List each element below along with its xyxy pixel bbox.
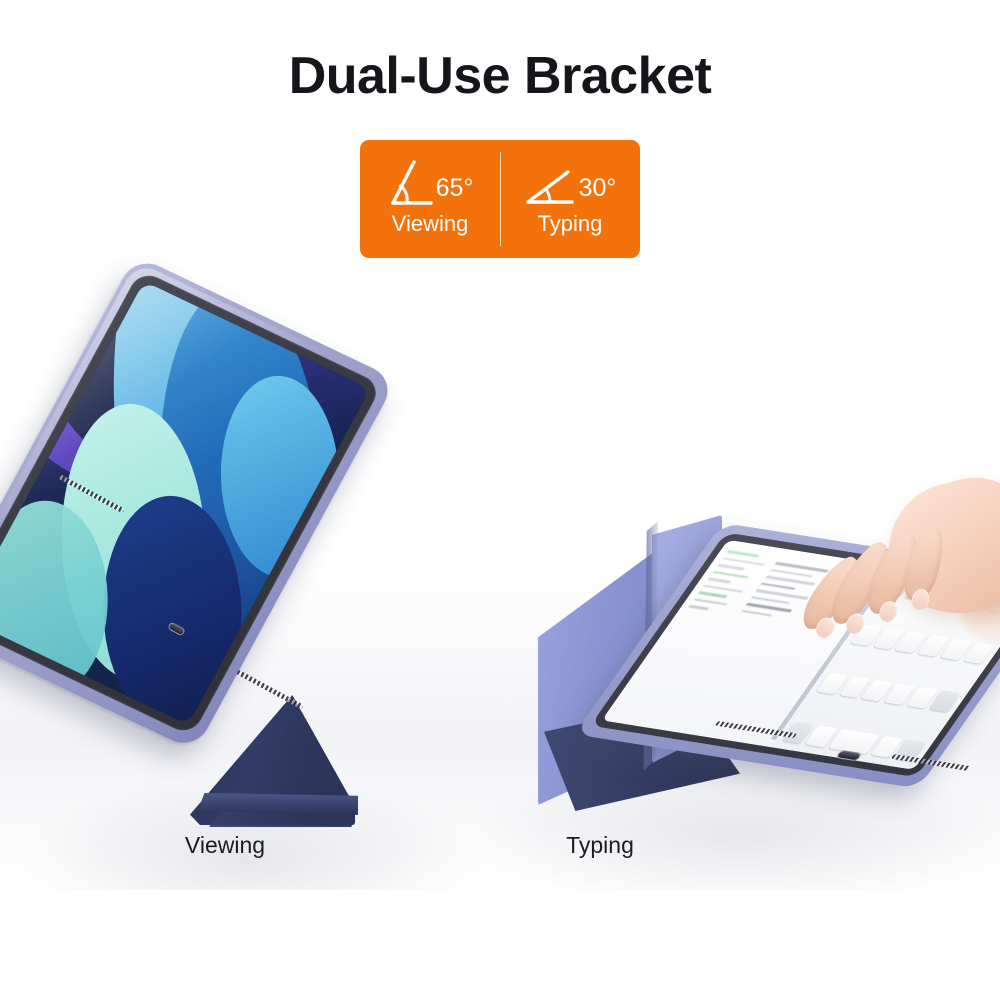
caption-typing: Typing — [480, 832, 720, 859]
badge-item-typing: 30° Typing — [500, 140, 640, 258]
angle-30-row: 30° — [524, 153, 617, 209]
product-photo-typing — [520, 505, 990, 845]
product-photo-viewing — [20, 295, 420, 835]
angle-30-value: 30° — [579, 176, 617, 209]
badge-item-viewing: 65° Viewing — [360, 140, 500, 258]
caption-viewing: Viewing — [105, 832, 345, 859]
hand-typing — [810, 485, 1000, 685]
angle-65-icon — [387, 157, 433, 209]
angle-65-row: 65° — [387, 153, 474, 209]
angle-30-icon — [524, 157, 576, 209]
badge-label-viewing: Viewing — [392, 213, 469, 235]
page-title: Dual-Use Bracket — [0, 46, 1000, 106]
badge-label-typing: Typing — [538, 213, 603, 235]
product-feature-image: Dual-Use Bracket 65° Viewing — [0, 0, 1000, 1000]
angle-badge: 65° Viewing 30° Typing — [360, 140, 640, 258]
tablet-device-viewing — [0, 269, 383, 736]
speaker-grille-bottom-left — [236, 670, 303, 710]
angle-65-value: 65° — [436, 176, 474, 209]
